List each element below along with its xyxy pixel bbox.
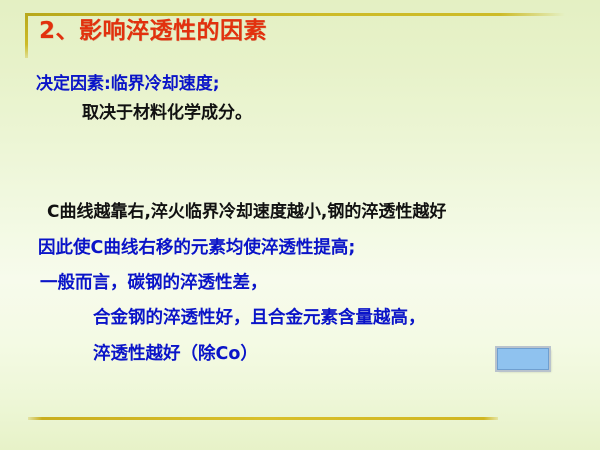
determining-factor-line-1: 决定因素:临界冷却速度; <box>36 75 220 95</box>
slide-canvas: 2、影响淬透性的因素 决定因素:临界冷却速度; 取决于材料化学成分。 C曲线越靠… <box>0 0 600 450</box>
conclusion-line-3: 一般而言，碳钢的淬透性差， <box>40 273 268 293</box>
conclusion-line-4: 合金钢的淬透性好，且合金元素含量越高， <box>93 308 426 328</box>
placeholder-box[interactable] <box>497 348 549 370</box>
footer-divider <box>28 417 498 420</box>
title-top-divider <box>25 13 565 16</box>
determining-factor-line-2: 取决于材料化学成分。 <box>82 104 252 124</box>
conclusion-line-5: 淬透性越好（除Co） <box>93 344 258 364</box>
page-title: 2、影响淬透性的因素 <box>39 19 267 44</box>
slide-title-block: 2、影响淬透性的因素 <box>25 13 565 59</box>
conclusion-line-2: 因此使C曲线右移的元素均使淬透性提高; <box>38 238 355 258</box>
conclusion-line-1: C曲线越靠右,淬火临界冷却速度越小,钢的淬透性越好 <box>47 203 446 223</box>
title-left-divider <box>25 13 28 58</box>
